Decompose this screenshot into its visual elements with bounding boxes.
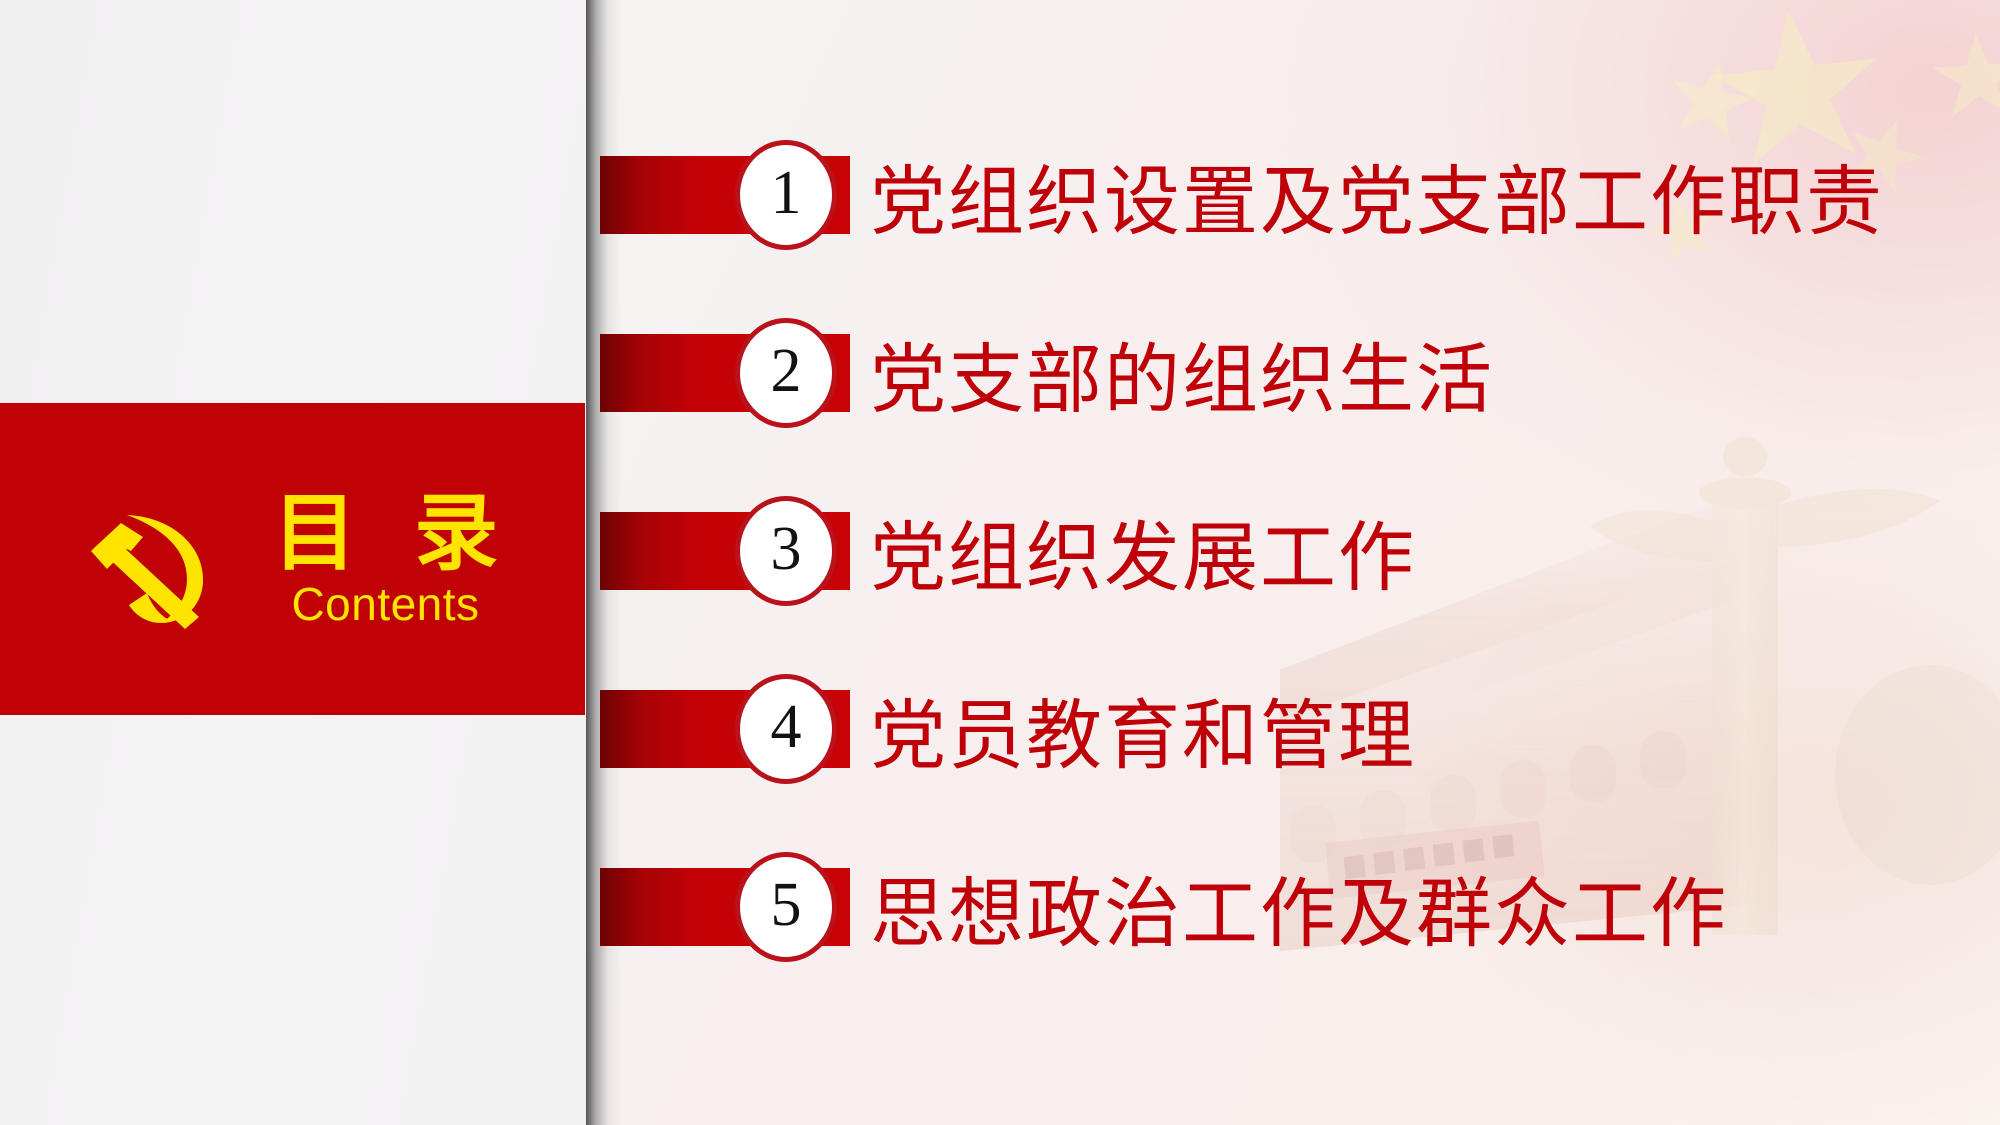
toc-label-4[interactable]: 党员教育和管理 <box>870 674 1416 784</box>
toc-number-badge-3: 3 <box>735 496 837 606</box>
toc-number-badge-4: 4 <box>735 674 837 784</box>
contents-slide: 目 录 Contents 1 党组织设置及党支部工作职责 2 党支部的组织生活 … <box>0 0 2000 1125</box>
toc-number-5: 5 <box>771 874 802 940</box>
toc-label-1[interactable]: 党组织设置及党支部工作职责 <box>870 140 1884 250</box>
toc-number-badge-1: 1 <box>735 140 837 250</box>
toc-number-badge-5: 5 <box>735 852 837 962</box>
toc-label-3[interactable]: 党组织发展工作 <box>870 496 1416 606</box>
toc-number-3: 3 <box>771 518 802 584</box>
toc-label-2[interactable]: 党支部的组织生活 <box>870 318 1494 428</box>
toc-label-5[interactable]: 思想政治工作及群众工作 <box>870 852 1728 962</box>
toc-number-4: 4 <box>771 696 802 762</box>
toc-number-2: 2 <box>771 340 802 406</box>
toc-list: 1 党组织设置及党支部工作职责 2 党支部的组织生活 3 党组织发展工作 4 党… <box>0 0 2000 1125</box>
toc-number-1: 1 <box>771 162 802 228</box>
toc-number-badge-2: 2 <box>735 318 837 428</box>
